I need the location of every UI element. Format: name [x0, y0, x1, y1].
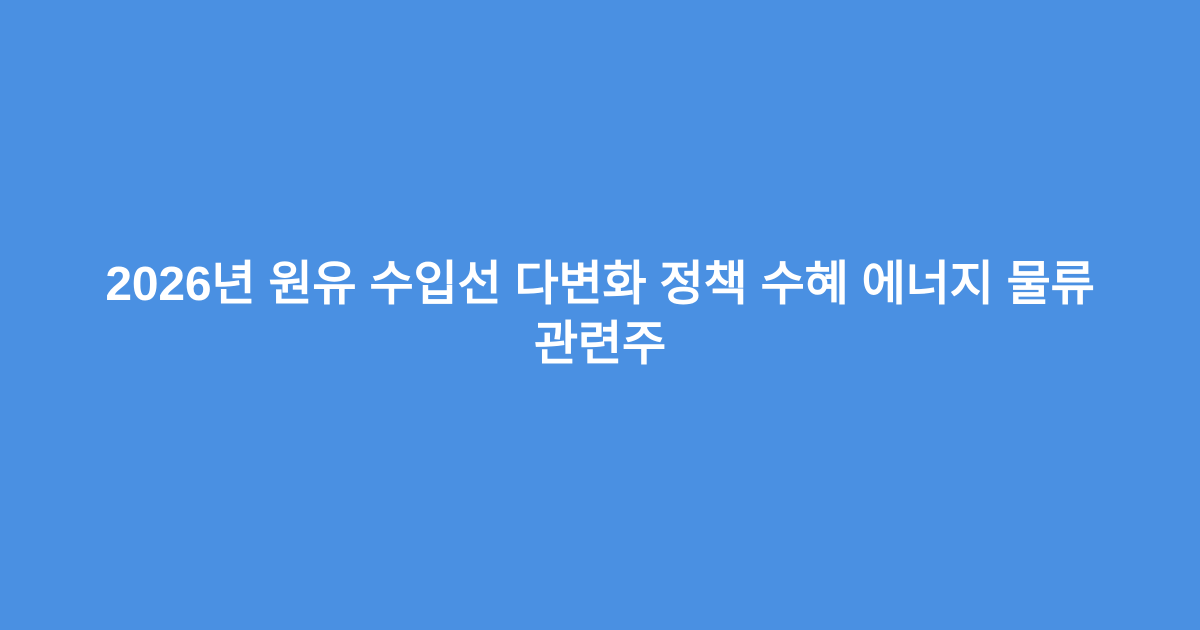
card-title: 2026년 원유 수입선 다변화 정책 수혜 에너지 물류 관련주 [64, 255, 1136, 375]
card-content-block: 2026년 원유 수입선 다변화 정책 수혜 에너지 물류 관련주 [64, 255, 1136, 375]
social-share-card: 2026년 원유 수입선 다변화 정책 수혜 에너지 물류 관련주 [0, 0, 1200, 630]
